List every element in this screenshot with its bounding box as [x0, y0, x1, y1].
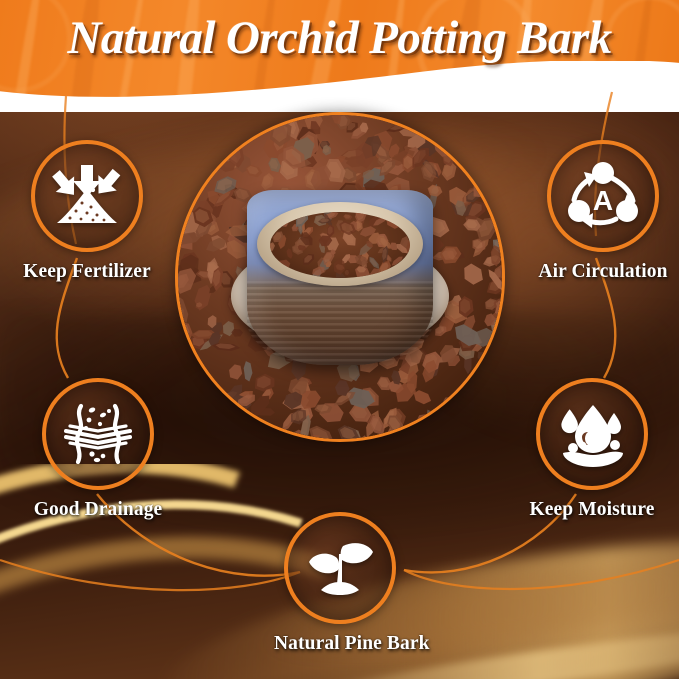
seedling-sprout-icon: [303, 536, 377, 600]
feature-keep-moisture[interactable]: Keep Moisture: [526, 378, 658, 521]
feature-keep-fertilizer[interactable]: Keep Fertilizer: [21, 140, 153, 283]
feature-icon-circle: [42, 378, 154, 490]
water-through-layers-icon: [61, 403, 135, 465]
feature-air-circulation[interactable]: A Air Circulation: [537, 140, 669, 283]
feature-icon-circle: [536, 378, 648, 490]
product-photo-image: [178, 115, 502, 439]
feature-icon-circle: [31, 140, 143, 252]
water-droplet-icon: [555, 401, 629, 467]
feature-label: Air Circulation: [537, 261, 669, 283]
page-title: Natural Orchid Potting Bark: [0, 11, 679, 65]
pot-ridges: [247, 281, 433, 365]
product-infographic: Natural Orchid Potting Bark: [0, 0, 679, 679]
feature-label: Keep Fertilizer: [21, 261, 153, 283]
header-banner: Natural Orchid Potting Bark: [0, 0, 679, 112]
svg-text:A: A: [593, 185, 613, 216]
feature-icon-circle: [284, 512, 396, 624]
feature-good-drainage[interactable]: Good Drainage: [32, 378, 164, 521]
feature-label: Natural Pine Bark: [274, 633, 406, 655]
feature-label: Good Drainage: [32, 499, 164, 521]
arrows-into-mound-icon: [51, 163, 123, 229]
feature-label: Keep Moisture: [526, 499, 658, 521]
feature-natural-pine-bark[interactable]: Natural Pine Bark: [274, 512, 406, 655]
product-photo: [175, 112, 505, 442]
ceramic-pot: [247, 190, 433, 365]
pot-interior-bark: [270, 212, 410, 278]
feature-icon-circle: A: [547, 140, 659, 252]
header-wave-divider: [0, 61, 679, 112]
circulation-cycle-a-icon: A: [567, 161, 639, 231]
